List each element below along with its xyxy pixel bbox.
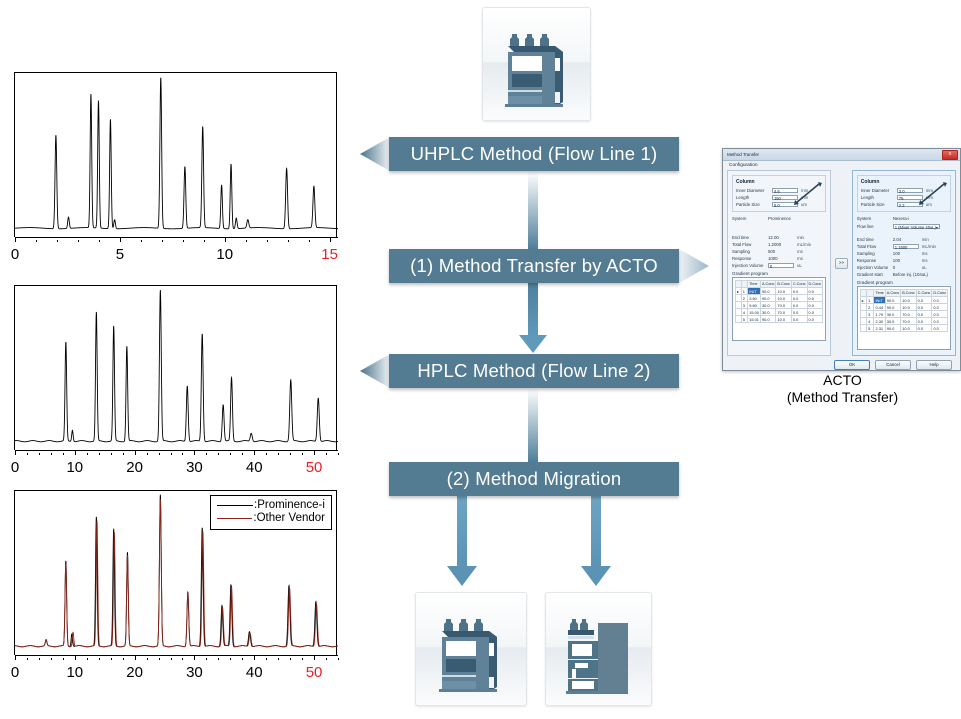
axis-minor-tick: [120, 240, 121, 242]
table-row[interactable]: 39.6030.070.00.00.0: [736, 302, 823, 309]
axis-minor-tick: [206, 453, 207, 455]
axis-tick-label: 0: [11, 459, 19, 476]
axis-minor-tick: [218, 658, 219, 660]
table-cell[interactable]: 0.0: [932, 318, 948, 325]
system-label: System: [857, 216, 893, 221]
readout-row: Response 100 ms: [857, 257, 951, 264]
flow-box-label: HPLC Method (Flow Line 2): [417, 360, 650, 382]
table-cell[interactable]: 0.0: [791, 309, 807, 316]
flow-box-label: (1) Method Transfer by ACTO: [410, 255, 658, 277]
axis-tick-label: 40: [246, 459, 263, 476]
table-cell[interactable]: 1.79: [874, 311, 885, 318]
table-cell[interactable]: 0.0: [916, 297, 932, 304]
readout-label: End time: [857, 237, 893, 242]
axis-tick-label: 30: [186, 459, 203, 476]
injection-volume-input[interactable]: 0: [768, 263, 794, 269]
axis-minor-tick: [309, 240, 310, 242]
axis-minor-tick: [204, 240, 205, 242]
axis-minor-tick: [87, 658, 88, 660]
readout-unit: ms: [922, 258, 928, 263]
column-header: Time: [748, 281, 761, 288]
gradient-program-table-right[interactable]: TimeA.ConcB.ConcC.ConcD.Conc ▸1INIT90.01…: [860, 289, 948, 332]
readout-label: Injection Volume: [732, 263, 768, 268]
axis-minor-tick: [111, 658, 112, 660]
lc-stack-instrument-icon: [483, 8, 590, 120]
column-header: D.Conc: [807, 281, 823, 288]
flow-box-method-transfer[interactable]: (1) Method Transfer by ACTO: [389, 249, 679, 283]
axis-tick-label: 50: [306, 459, 323, 476]
axis-minor-tick: [314, 658, 315, 660]
column-group-right: Column Inner Diameter 3.0 mm Length 75 m…: [857, 175, 951, 212]
axis-minor-tick: [39, 658, 40, 660]
column-header: C.Conc: [791, 281, 807, 288]
table-cell[interactable]: 0.0: [807, 288, 823, 295]
gradient-program-title: Gradient program: [857, 280, 951, 285]
gradient-table-wrap[interactable]: TimeA.ConcB.ConcC.ConcD.Conc ▸1INIT90.01…: [857, 286, 951, 350]
axis-minor-tick: [288, 240, 289, 242]
axis-minor-tick: [99, 453, 100, 455]
axis-tick-label: 20: [126, 664, 143, 681]
column-needle-icon: [918, 180, 948, 206]
table-row[interactable]: ▸1INIT90.010.00.00.0: [736, 288, 823, 295]
table-cell[interactable]: 0.0: [791, 288, 807, 295]
flowline-label: Flow line: [857, 224, 893, 229]
readout-row: Sampling 100 ms: [857, 250, 951, 257]
axis-minor-tick: [27, 658, 28, 660]
table-cell[interactable]: 0.0: [791, 295, 807, 302]
table-cell[interactable]: 70.0: [901, 318, 916, 325]
axis-minor-tick: [78, 240, 79, 242]
axis-tick-label: 0: [11, 664, 19, 681]
table-cell[interactable]: 0.0: [807, 302, 823, 309]
column-header: Time: [874, 290, 885, 297]
table-cell[interactable]: 10.0: [901, 297, 916, 304]
dialog-button-row: OK Cancel Help: [723, 356, 960, 371]
field-label: Length: [736, 195, 772, 200]
table-cell[interactable]: 0.0: [916, 325, 932, 332]
table-cell[interactable]: 5: [867, 325, 874, 332]
axis-minor-tick: [314, 453, 315, 455]
acto-caption-line1: ACTO: [760, 372, 925, 389]
table-cell[interactable]: 3.60: [748, 295, 761, 302]
legend-swatch-other-vendor: [217, 518, 252, 519]
connector-transfer-to-hplc: [513, 283, 553, 355]
field-label: Particle Size: [861, 202, 897, 207]
readout-label: System: [732, 216, 768, 221]
table-cell[interactable]: 30.0: [885, 318, 900, 325]
cancel-button[interactable]: Cancel: [875, 360, 911, 370]
table-cell[interactable]: 0.0: [791, 302, 807, 309]
flowline-select[interactable]: 1 (Mixer Volume 40uL) ▾: [893, 224, 940, 230]
axis-tick-label: 5: [116, 246, 124, 263]
lc-stack-instrument-icon-tile: [482, 7, 591, 121]
readout-row: Injection Volume 0 uL: [732, 262, 826, 269]
chromatogram-hplc: 01020304050: [0, 285, 350, 470]
arrow-left-to-uhplc-chart: [360, 137, 392, 171]
readout-label: End time: [732, 235, 768, 240]
axis-minor-tick: [182, 658, 183, 660]
axis-minor-tick: [123, 453, 124, 455]
axis-minor-tick: [242, 453, 243, 455]
arrow-right-to-acto: [679, 249, 711, 283]
axis-tick-label: 50: [306, 664, 323, 681]
axis-tick-label: 20: [126, 459, 143, 476]
readout-value: 500: [768, 249, 797, 254]
readout-label: Gradient start: [857, 272, 893, 277]
transfer-arrow-button[interactable]: >>: [835, 258, 848, 269]
readout-row: End time 2.04 min: [857, 236, 951, 243]
axis-minor-tick: [326, 453, 327, 455]
column-header: B.Conc: [776, 281, 791, 288]
readout-unit: uL: [797, 263, 802, 268]
axis-minor-tick: [63, 453, 64, 455]
plot-frame: [14, 72, 337, 237]
axis-minor-tick: [171, 453, 172, 455]
axis-minor-tick: [162, 240, 163, 242]
table-row[interactable]: 415.0030.070.00.00.0: [736, 309, 823, 316]
table-cell[interactable]: 0.0: [807, 309, 823, 316]
axis-minor-tick: [75, 658, 76, 660]
axis-tick-label: 30: [186, 664, 203, 681]
axis-minor-tick: [75, 453, 76, 455]
column-needle-icon: [793, 180, 823, 206]
table-cell[interactable]: 0.0: [916, 304, 932, 311]
readout-value: 100: [893, 258, 922, 263]
column-header: A.Conc: [885, 290, 900, 297]
axis-minor-tick: [147, 658, 148, 660]
table-cell[interactable]: 0.0: [932, 311, 948, 318]
table-cell[interactable]: 10.0: [901, 304, 916, 311]
system-value: Nexera-i: [893, 216, 922, 221]
readout-value: 0: [893, 265, 922, 270]
table-header-row: TimeA.ConcB.ConcC.ConcD.Conc: [860, 290, 947, 297]
axis-minor-tick: [266, 658, 267, 660]
arrow-left-to-hplc-chart: [360, 354, 392, 388]
readout-value: 1000: [768, 256, 797, 261]
readout-unit: ms: [797, 256, 803, 261]
connector-uhplc-to-transfer: [518, 171, 548, 249]
axis-minor-tick: [290, 453, 291, 455]
flow-box-uhplc-method[interactable]: UHPLC Method (Flow Line 1): [389, 137, 679, 171]
axis-minor-tick: [230, 453, 231, 455]
lc-stack-instrument-icon: [416, 593, 526, 705]
axis-minor-tick: [302, 453, 303, 455]
readout-value: 12.00: [768, 235, 797, 240]
axis-minor-tick: [326, 658, 327, 660]
column-header: D.Conc: [932, 290, 948, 297]
axis-minor-tick: [225, 240, 226, 242]
readout-label: Total Flow: [857, 244, 893, 249]
axis-minor-tick: [57, 240, 58, 242]
table-cell[interactable]: 15.01: [748, 316, 761, 323]
readout-value: 100: [893, 251, 922, 256]
arrow-down-to-lc-left: [441, 496, 483, 586]
table-cell[interactable]: 2: [867, 304, 874, 311]
column-header: [867, 290, 874, 297]
acto-caption-line2: (Method Transfer): [760, 389, 925, 406]
readout-label: Total Flow: [732, 242, 768, 247]
readout-unit: mL/min: [922, 244, 936, 249]
table-cell[interactable]: 0.0: [932, 304, 948, 311]
table-cell[interactable]: 2.30: [874, 318, 885, 325]
readout-value: Before inj. (104uL): [893, 272, 948, 277]
axis-minor-tick: [123, 658, 124, 660]
table-cell[interactable]: 0.0: [807, 316, 823, 323]
window-titlebar: Method Transfer x: [723, 149, 960, 161]
chromatogram-trace: [15, 73, 338, 238]
table-cell[interactable]: 90.0: [760, 295, 775, 302]
trace-line: [15, 78, 338, 229]
axis-minor-tick: [111, 453, 112, 455]
readout-row: Total Flow 1.1600 mL/min: [857, 243, 951, 250]
axis-minor-tick: [63, 658, 64, 660]
axis-minor-tick: [159, 658, 160, 660]
flowline-value: 1 (Mixer Volume 40uL): [895, 225, 936, 230]
lc-stack-instrument-icon-tile-bottom-left: [415, 592, 527, 706]
table-cell[interactable]: 0.0: [791, 316, 807, 323]
table-cell[interactable]: 1: [867, 297, 874, 304]
legend-item: :Prominence-i: [217, 499, 325, 512]
axis-minor-tick: [36, 240, 37, 242]
axis-minor-tick: [15, 240, 16, 242]
readout-value: Prominence: [768, 216, 797, 221]
flow-box-label: UHPLC Method (Flow Line 1): [411, 143, 658, 165]
acto-panes: Column Inner Diameter 4.6 mm Length 150 …: [723, 170, 960, 356]
table-cell[interactable]: 30.0: [760, 302, 775, 309]
trace-line: [15, 290, 338, 442]
axis-minor-tick: [51, 453, 52, 455]
lc-cabinet-instrument-icon: [546, 593, 651, 705]
field-label: Inner Diameter: [736, 188, 772, 193]
table-cell[interactable]: 90.0: [885, 304, 900, 311]
axis-minor-tick: [99, 658, 100, 660]
table-cell[interactable]: 0.0: [916, 318, 932, 325]
chromatogram-trace: [15, 286, 338, 451]
axis-minor-tick: [135, 453, 136, 455]
axis-minor-tick: [338, 658, 339, 660]
legend-item: :Other Vendor: [217, 512, 325, 525]
chart-legend: :Prominence-i :Other Vendor: [210, 495, 332, 530]
gradient-program-title: Gradient program: [732, 271, 826, 276]
readout-row: Sampling 500 ms: [732, 248, 826, 255]
readout-unit: min: [922, 237, 929, 242]
plot-frame: [14, 285, 337, 450]
chevron-down-icon[interactable]: ▾: [936, 225, 938, 230]
axis-minor-tick: [290, 658, 291, 660]
axis-minor-tick: [194, 453, 195, 455]
table-cell[interactable]: 70.0: [776, 309, 791, 316]
table-cell[interactable]: 70.0: [776, 302, 791, 309]
connector-hplc-to-migration: [518, 388, 548, 462]
column-header: B.Conc: [901, 290, 916, 297]
acto-method-transfer-window[interactable]: Method Transfer x Configuration Column I…: [722, 148, 961, 371]
field-label: Inner Diameter: [861, 188, 897, 193]
table-cell[interactable]: 30.0: [885, 311, 900, 318]
target-method-pane: Column Inner Diameter 3.0 mm Length 75 m…: [852, 170, 956, 356]
axis-minor-tick: [218, 453, 219, 455]
axis-minor-tick: [182, 453, 183, 455]
axis-tick-label: 10: [66, 459, 83, 476]
field-label: Length: [861, 195, 897, 200]
readout-row: Response 1000 ms: [732, 255, 826, 262]
readout-unit: min: [797, 235, 804, 240]
source-method-pane: Column Inner Diameter 4.6 mm Length 150 …: [727, 170, 831, 356]
table-cell[interactable]: 90.0: [885, 297, 900, 304]
axis-minor-tick: [246, 240, 247, 242]
axis-minor-tick: [27, 453, 28, 455]
table-row[interactable]: 23.6090.010.00.00.0: [736, 295, 823, 302]
tab-configuration[interactable]: Configuration: [723, 161, 960, 170]
flow-box-label: (2) Method Migration: [447, 468, 622, 490]
table-row[interactable]: 42.3030.070.00.00.0: [860, 318, 947, 325]
axis-minor-tick: [254, 453, 255, 455]
table-cell[interactable]: 2.31: [874, 325, 885, 332]
axis-minor-tick: [87, 453, 88, 455]
chromatogram-uhplc: 051015: [0, 72, 350, 257]
axis-minor-tick: [15, 658, 16, 660]
table-header-row: TimeA.ConcB.ConcC.ConcD.Conc: [736, 281, 823, 288]
axis-minor-tick: [278, 453, 279, 455]
axis-minor-tick: [338, 453, 339, 455]
readout-label: Sampling: [732, 249, 768, 254]
table-row[interactable]: ▸1INIT90.010.00.00.0: [860, 297, 947, 304]
axis-minor-tick: [302, 658, 303, 660]
readout-row: Gradient start Before inj. (104uL): [857, 271, 951, 278]
axis-minor-tick: [278, 658, 279, 660]
total-flow-input[interactable]: 1.1600: [893, 244, 919, 250]
table-cell[interactable]: 9.60: [748, 302, 761, 309]
readout-unit: ms: [922, 251, 928, 256]
table-cell[interactable]: 10.0: [776, 295, 791, 302]
legend-label-other-vendor: :Other Vendor: [253, 512, 325, 525]
axis-minor-tick: [206, 658, 207, 660]
close-icon[interactable]: x: [942, 150, 958, 160]
field-label: Particle Size: [736, 202, 772, 207]
axis-minor-tick: [330, 240, 331, 242]
column-header: C.Conc: [916, 290, 932, 297]
axis-minor-tick: [171, 658, 172, 660]
legend-label-prominence: :Prominence-i: [254, 499, 325, 512]
axis-minor-tick: [183, 240, 184, 242]
axis-tick-label: 10: [66, 664, 83, 681]
readout-row: Total Flow 1.2000 mL/min: [732, 241, 826, 248]
chromatogram-overlay: :Prominence-i :Other Vendor 01020304050: [0, 490, 350, 675]
table-cell[interactable]: 0.44: [874, 304, 885, 311]
axis-minor-tick: [141, 240, 142, 242]
table-cell[interactable]: 10.0: [776, 288, 791, 295]
table-cell[interactable]: 4: [867, 318, 874, 325]
table-row[interactable]: 515.0190.010.00.00.0: [736, 316, 823, 323]
table-cell[interactable]: INIT: [748, 288, 761, 295]
axis-tick-label: 10: [216, 246, 233, 263]
axis-minor-tick: [15, 453, 16, 455]
ok-button[interactable]: OK: [834, 360, 870, 370]
axis-minor-tick: [147, 453, 148, 455]
table-cell[interactable]: 0.0: [916, 311, 932, 318]
lc-cabinet-instrument-icon-tile-bottom-right: [545, 592, 652, 706]
table-cell[interactable]: 30.0: [760, 309, 775, 316]
table-cell[interactable]: 90.0: [760, 316, 775, 323]
axis-minor-tick: [230, 658, 231, 660]
axis-minor-tick: [159, 453, 160, 455]
table-row[interactable]: 52.3190.010.00.00.0: [860, 325, 947, 332]
table-cell[interactable]: 0.0: [932, 325, 948, 332]
table-cell[interactable]: 70.0: [901, 311, 916, 318]
axis-minor-tick: [254, 658, 255, 660]
readout-unit: ms: [797, 249, 803, 254]
axis-tick-label: 15: [321, 246, 338, 263]
axis-minor-tick: [242, 658, 243, 660]
table-cell[interactable]: 15.00: [748, 309, 761, 316]
readout-label: Sampling: [857, 251, 893, 256]
readout-unit: mL/min: [797, 242, 811, 247]
flowline-row: Flow line 1 (Mixer Volume 40uL) ▾: [857, 222, 951, 231]
column-header: A.Conc: [760, 281, 775, 288]
window-title: Method Transfer: [725, 152, 759, 157]
gradient-table-wrap[interactable]: TimeA.ConcB.ConcC.ConcD.Conc ▸1INIT90.01…: [732, 277, 826, 341]
legend-swatch-prominence: [217, 505, 253, 506]
table-row[interactable]: 20.4490.010.00.00.0: [860, 304, 947, 311]
readout-value: 1.2000: [768, 242, 797, 247]
readout-row: Injection Volume 0 uL: [857, 264, 951, 271]
column-group-left: Column Inner Diameter 4.6 mm Length 150 …: [732, 175, 826, 212]
axis-tick-label: 40: [246, 664, 263, 681]
readout-value: 2.04: [893, 237, 922, 242]
axis-minor-tick: [39, 453, 40, 455]
table-cell[interactable]: 0.0: [932, 297, 948, 304]
readout-unit: uL: [922, 265, 927, 270]
table-cell[interactable]: 10.0: [776, 316, 791, 323]
arrow-down-to-lc-right: [575, 496, 617, 586]
flow-box-hplc-method[interactable]: HPLC Method (Flow Line 2): [389, 354, 679, 388]
axis-minor-tick: [267, 240, 268, 242]
axis-minor-tick: [266, 453, 267, 455]
axis-minor-tick: [135, 658, 136, 660]
table-cell[interactable]: INIT: [874, 297, 885, 304]
table-cell[interactable]: 0.0: [807, 295, 823, 302]
readout-label: Response: [732, 256, 768, 261]
axis-tick-label: 0: [11, 246, 19, 263]
readout-row: System Prominence: [732, 215, 826, 222]
axis-minor-tick: [194, 658, 195, 660]
flow-box-method-migration[interactable]: (2) Method Migration: [389, 462, 679, 496]
axis-minor-tick: [99, 240, 100, 242]
axis-minor-tick: [51, 658, 52, 660]
readout-label: Response: [857, 258, 893, 263]
table-cell[interactable]: 90.0: [760, 288, 775, 295]
readout-row: End time 12.00 min: [732, 234, 826, 241]
readout-label: Injection Volume: [857, 265, 893, 270]
readout-row: System Nexera-i: [857, 215, 951, 222]
table-cell[interactable]: 10.0: [901, 325, 916, 332]
table-cell[interactable]: 90.0: [885, 325, 900, 332]
table-row[interactable]: 31.7930.070.00.00.0: [860, 311, 947, 318]
table-cell[interactable]: 3: [867, 311, 874, 318]
gradient-program-table-left[interactable]: TimeA.ConcB.ConcC.ConcD.Conc ▸1INIT90.01…: [735, 280, 823, 323]
help-button[interactable]: Help: [916, 360, 952, 370]
acto-caption: ACTO (Method Transfer): [760, 372, 925, 406]
